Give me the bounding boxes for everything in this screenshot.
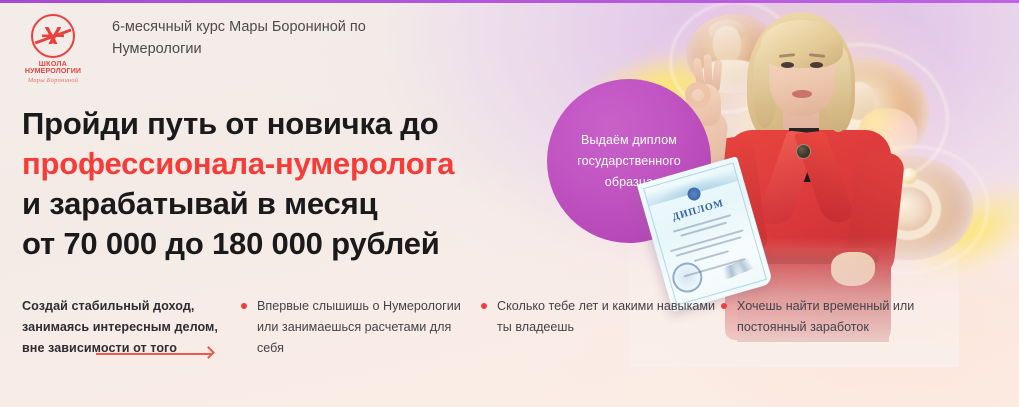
- logo-line-1: ШКОЛА: [22, 61, 84, 68]
- top-accent-rule: [0, 0, 1019, 3]
- logo-line-3: Мары Борониной: [22, 77, 84, 84]
- benefits-row: Создай стабильный доход, занимаясь интер…: [22, 296, 1002, 363]
- course-subtitle: 6-месячный курс Мары Борониной по Нумеро…: [112, 14, 442, 60]
- benefit-text: Впервые слышишь о Нумерологии или занима…: [237, 296, 477, 359]
- benefit-text: Хочешь найти временный или постоянный за…: [717, 296, 967, 338]
- benefit-text: Сколько тебе лет и какими навыками ты вл…: [477, 296, 717, 338]
- page-title: Пройди путь от новичка до профессионала-…: [22, 104, 454, 264]
- landing-hero-banner: Выдаём диплом государственного образца Д…: [0, 0, 1019, 407]
- headline-line-1: Пройди путь от новичка до: [22, 104, 454, 144]
- benefit-item-experience: Впервые слышишь о Нумерологии или занима…: [237, 296, 477, 363]
- arrow-right-icon: [96, 345, 237, 363]
- page-header: ШКОЛА НУМЕРОЛОГИИ Мары Борониной 6-месяч…: [22, 14, 442, 84]
- lips-shape: [792, 90, 812, 98]
- pendant-necklace-icon: [796, 144, 811, 159]
- headline-line-2-accent: профессионала-нумеролога: [22, 144, 454, 184]
- logo-line-2: НУМЕРОЛОГИИ: [22, 68, 84, 75]
- eye-left: [781, 62, 794, 68]
- arrow-line: [96, 353, 212, 355]
- brand-logo[interactable]: ШКОЛА НУМЕРОЛОГИИ Мары Борониной: [22, 14, 84, 84]
- benefit-item-age-skills: Сколько тебе лет и какими навыками ты вл…: [477, 296, 717, 363]
- arrow-head: [202, 346, 215, 359]
- eye-right: [810, 62, 823, 68]
- headline-line-4: от 70 000 до 180 000 рублей: [22, 224, 454, 264]
- intro-column: Создай стабильный доход, занимаясь интер…: [22, 296, 237, 363]
- numerology-school-logo-icon: [31, 14, 75, 58]
- headline-line-3: и зарабатывай в месяц: [22, 184, 454, 224]
- hair-front-shape: [761, 20, 843, 68]
- benefit-item-income-goal: Хочешь найти временный или постоянный за…: [717, 296, 967, 363]
